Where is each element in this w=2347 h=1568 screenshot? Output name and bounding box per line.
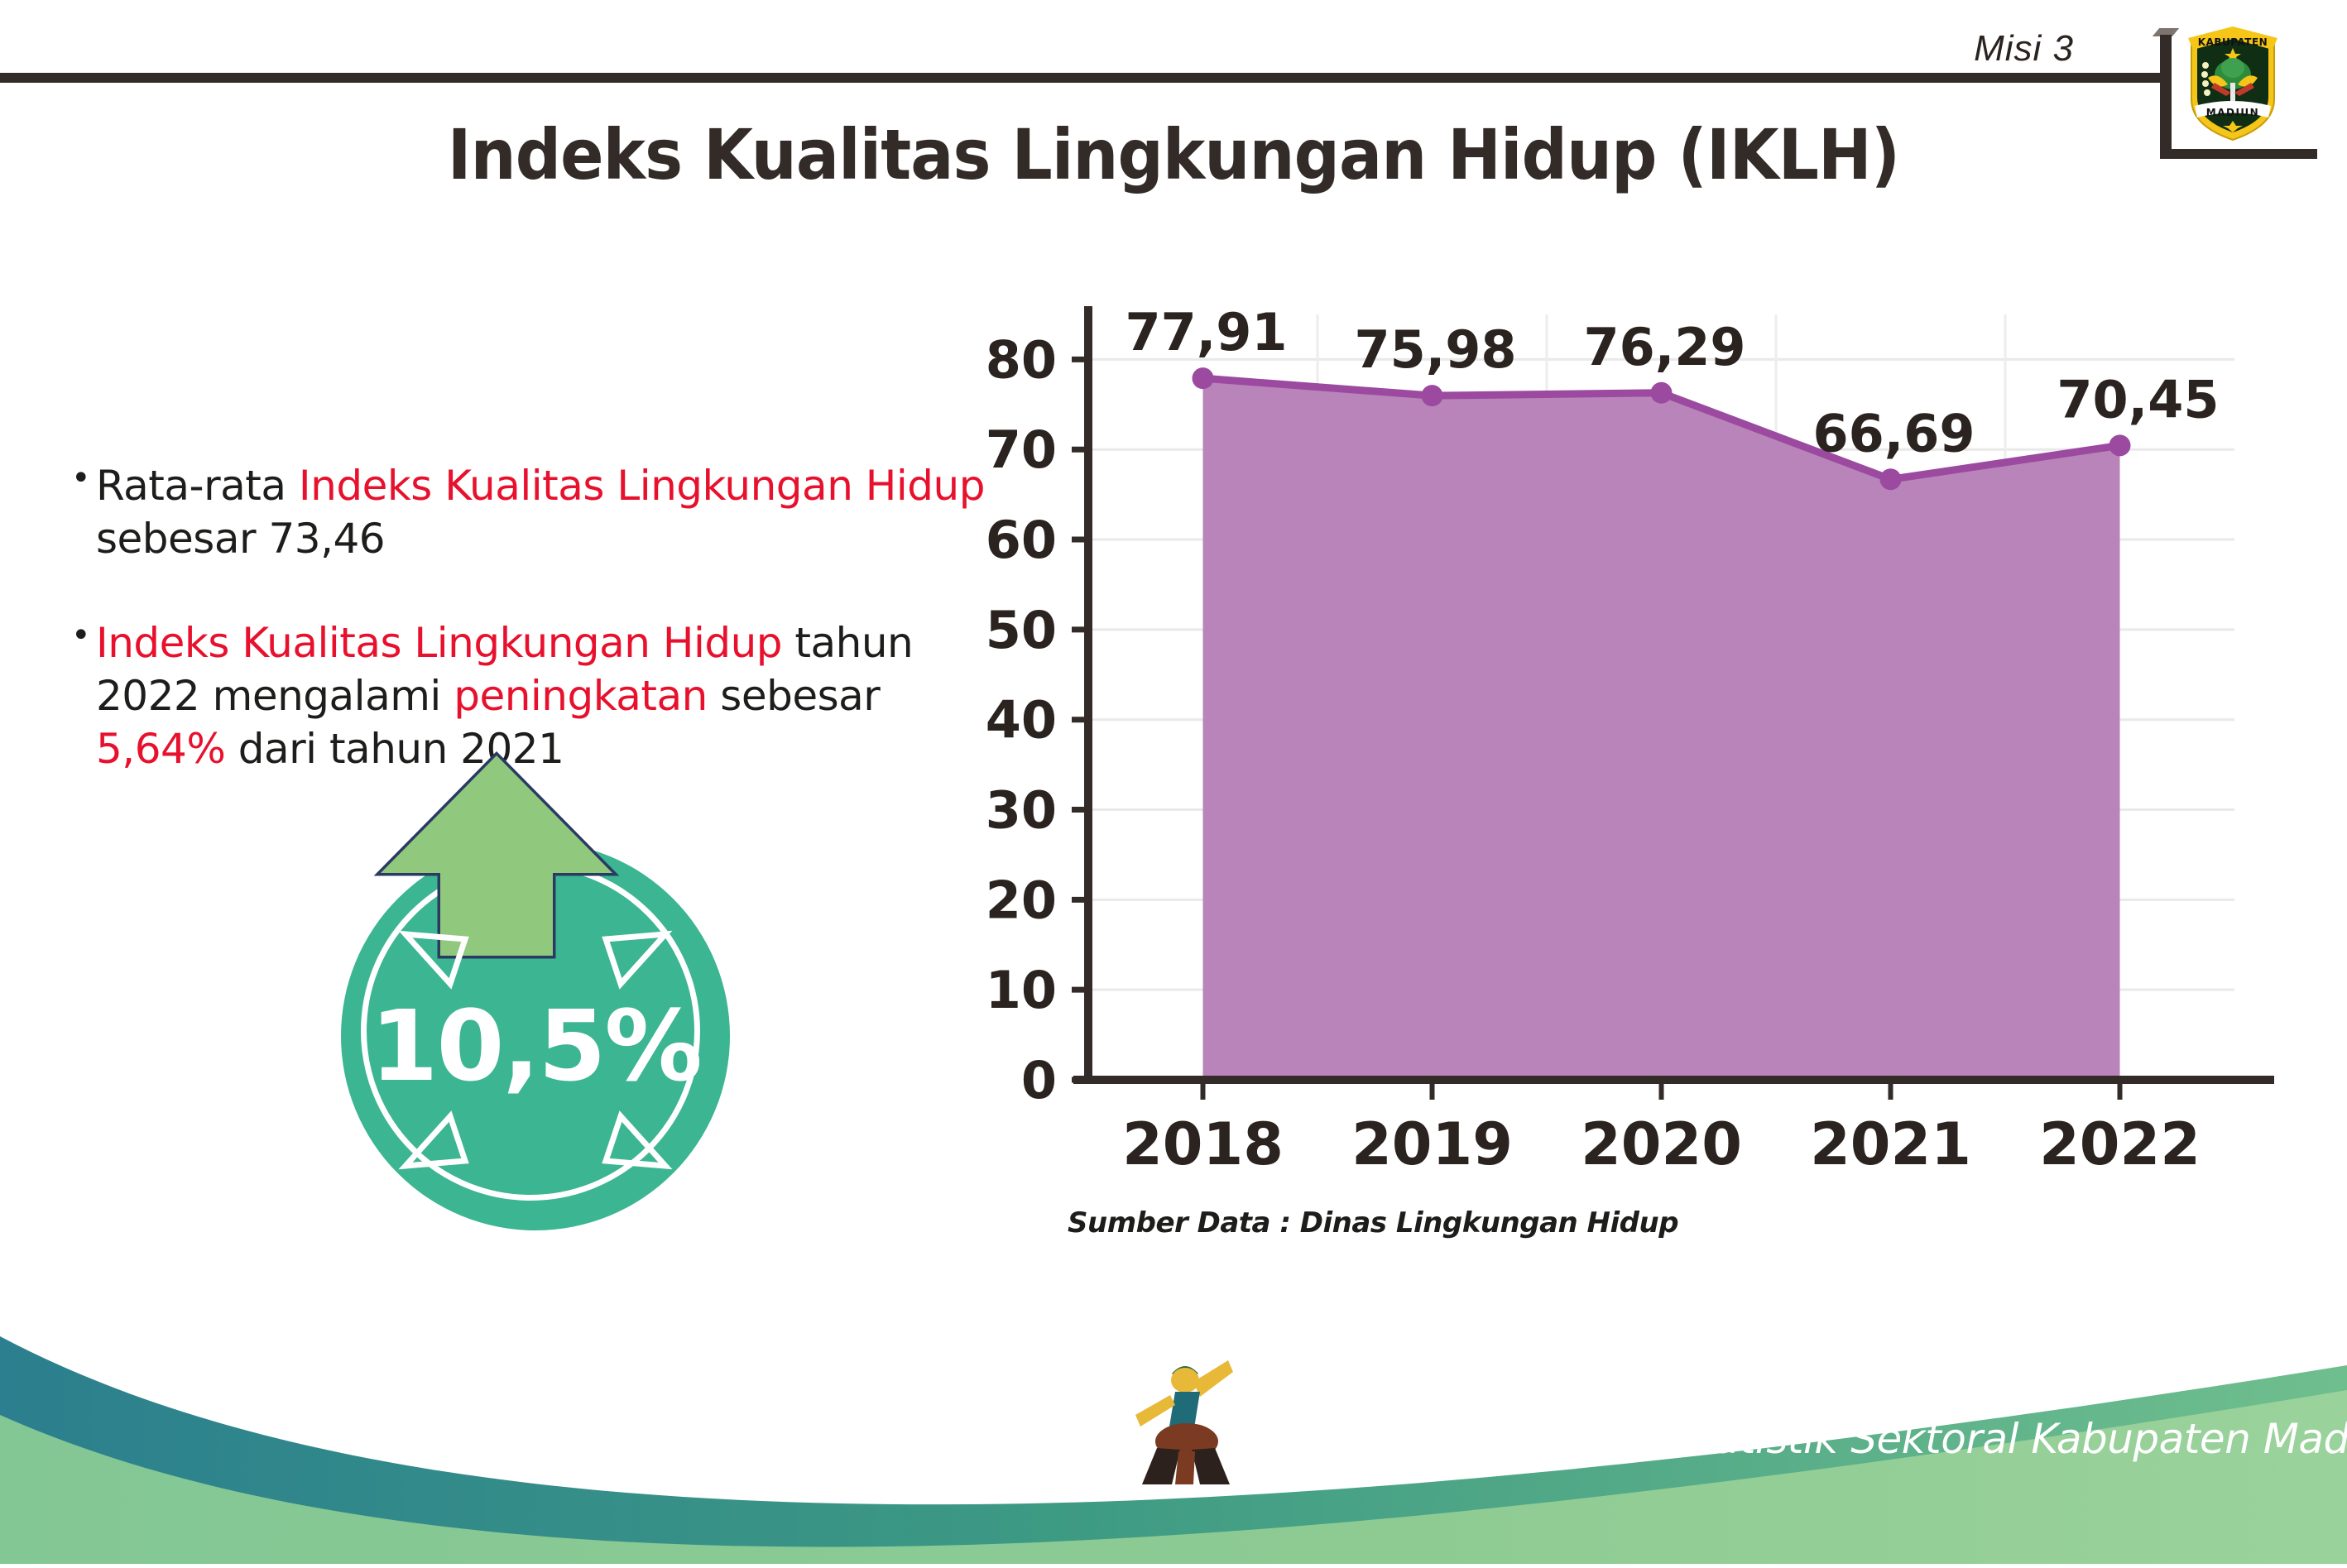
x-axis-tick-label: 2020 [1581, 1110, 1742, 1178]
bullet-2-seg-3: peningkatan [454, 672, 708, 720]
bullet-2-seg-1: Indeks Kualitas Lingkungan Hidup [96, 619, 782, 667]
chart-canvas: 77,9175,9876,2966,6970,45010203040506070… [952, 273, 2292, 1192]
bullet-1-seg-3: sebesar 73,46 [96, 515, 385, 563]
data-point-marker [1651, 382, 1673, 404]
header-divider-rule [0, 73, 2170, 83]
y-axis-tick-label: 0 [1021, 1050, 1057, 1110]
bullet-item-average: Rata-rata Indeks Kualitas Lingkungan Hid… [66, 459, 993, 565]
page-footer: Media Infografis Data Statistik Sektoral… [0, 1291, 2347, 1564]
y-axis-tick-label: 20 [986, 870, 1057, 930]
page-title: Indeks Kualitas Lingkungan Hidup (IKLH) [94, 114, 2253, 195]
x-axis-tick-label: 2019 [1351, 1110, 1513, 1178]
data-point-marker [1880, 468, 1902, 490]
x-axis-tick-label: 2022 [2039, 1110, 2201, 1178]
y-axis-tick-label: 30 [986, 780, 1057, 841]
chart-source-note: Sumber Data : Dinas Lingkungan Hidup [1068, 1206, 1678, 1240]
data-point-label: 75,98 [1354, 319, 1516, 380]
data-point-marker [1193, 367, 1214, 389]
misi-label: Misi 3 [1974, 28, 2074, 70]
y-axis-tick-label: 10 [986, 960, 1057, 1020]
y-axis-tick-label: 40 [986, 690, 1057, 750]
x-axis-tick-label: 2018 [1122, 1110, 1284, 1178]
y-axis-tick-label: 60 [986, 510, 1057, 570]
data-point-marker [2109, 434, 2131, 456]
increase-badge: 10,5% [323, 749, 770, 1212]
bullet-2-seg-5: 5,64% [96, 725, 225, 773]
badge-value-label: 10,5% [341, 989, 730, 1103]
data-point-label: 70,45 [2057, 369, 2219, 429]
data-point-marker [1422, 385, 1443, 406]
data-point-label: 77,91 [1125, 302, 1287, 362]
data-point-label: 66,69 [1812, 403, 1975, 463]
y-axis-tick-label: 70 [986, 420, 1057, 480]
iklh-area-chart: 77,9175,9876,2966,6970,45010203040506070… [952, 273, 2292, 1192]
footer-caption: Media Infografis Data Statistik Sektoral… [1225, 1415, 2347, 1463]
dancer-figure-icon [1135, 1355, 1235, 1488]
y-axis-tick-label: 50 [986, 600, 1057, 660]
bullet-1-seg-2: Indeks Kualitas Lingkungan Hidup [299, 462, 985, 510]
y-axis-tick-label: 80 [986, 329, 1057, 390]
x-axis-tick-label: 2021 [1810, 1110, 1971, 1178]
bullet-2-seg-4: sebesar [708, 672, 880, 720]
bullet-1-seg-1: Rata-rata [96, 462, 299, 510]
data-point-label: 76,29 [1583, 317, 1745, 377]
svg-text:KABUPATEN: KABUPATEN [2198, 36, 2268, 48]
area-fill [1203, 378, 2120, 1080]
